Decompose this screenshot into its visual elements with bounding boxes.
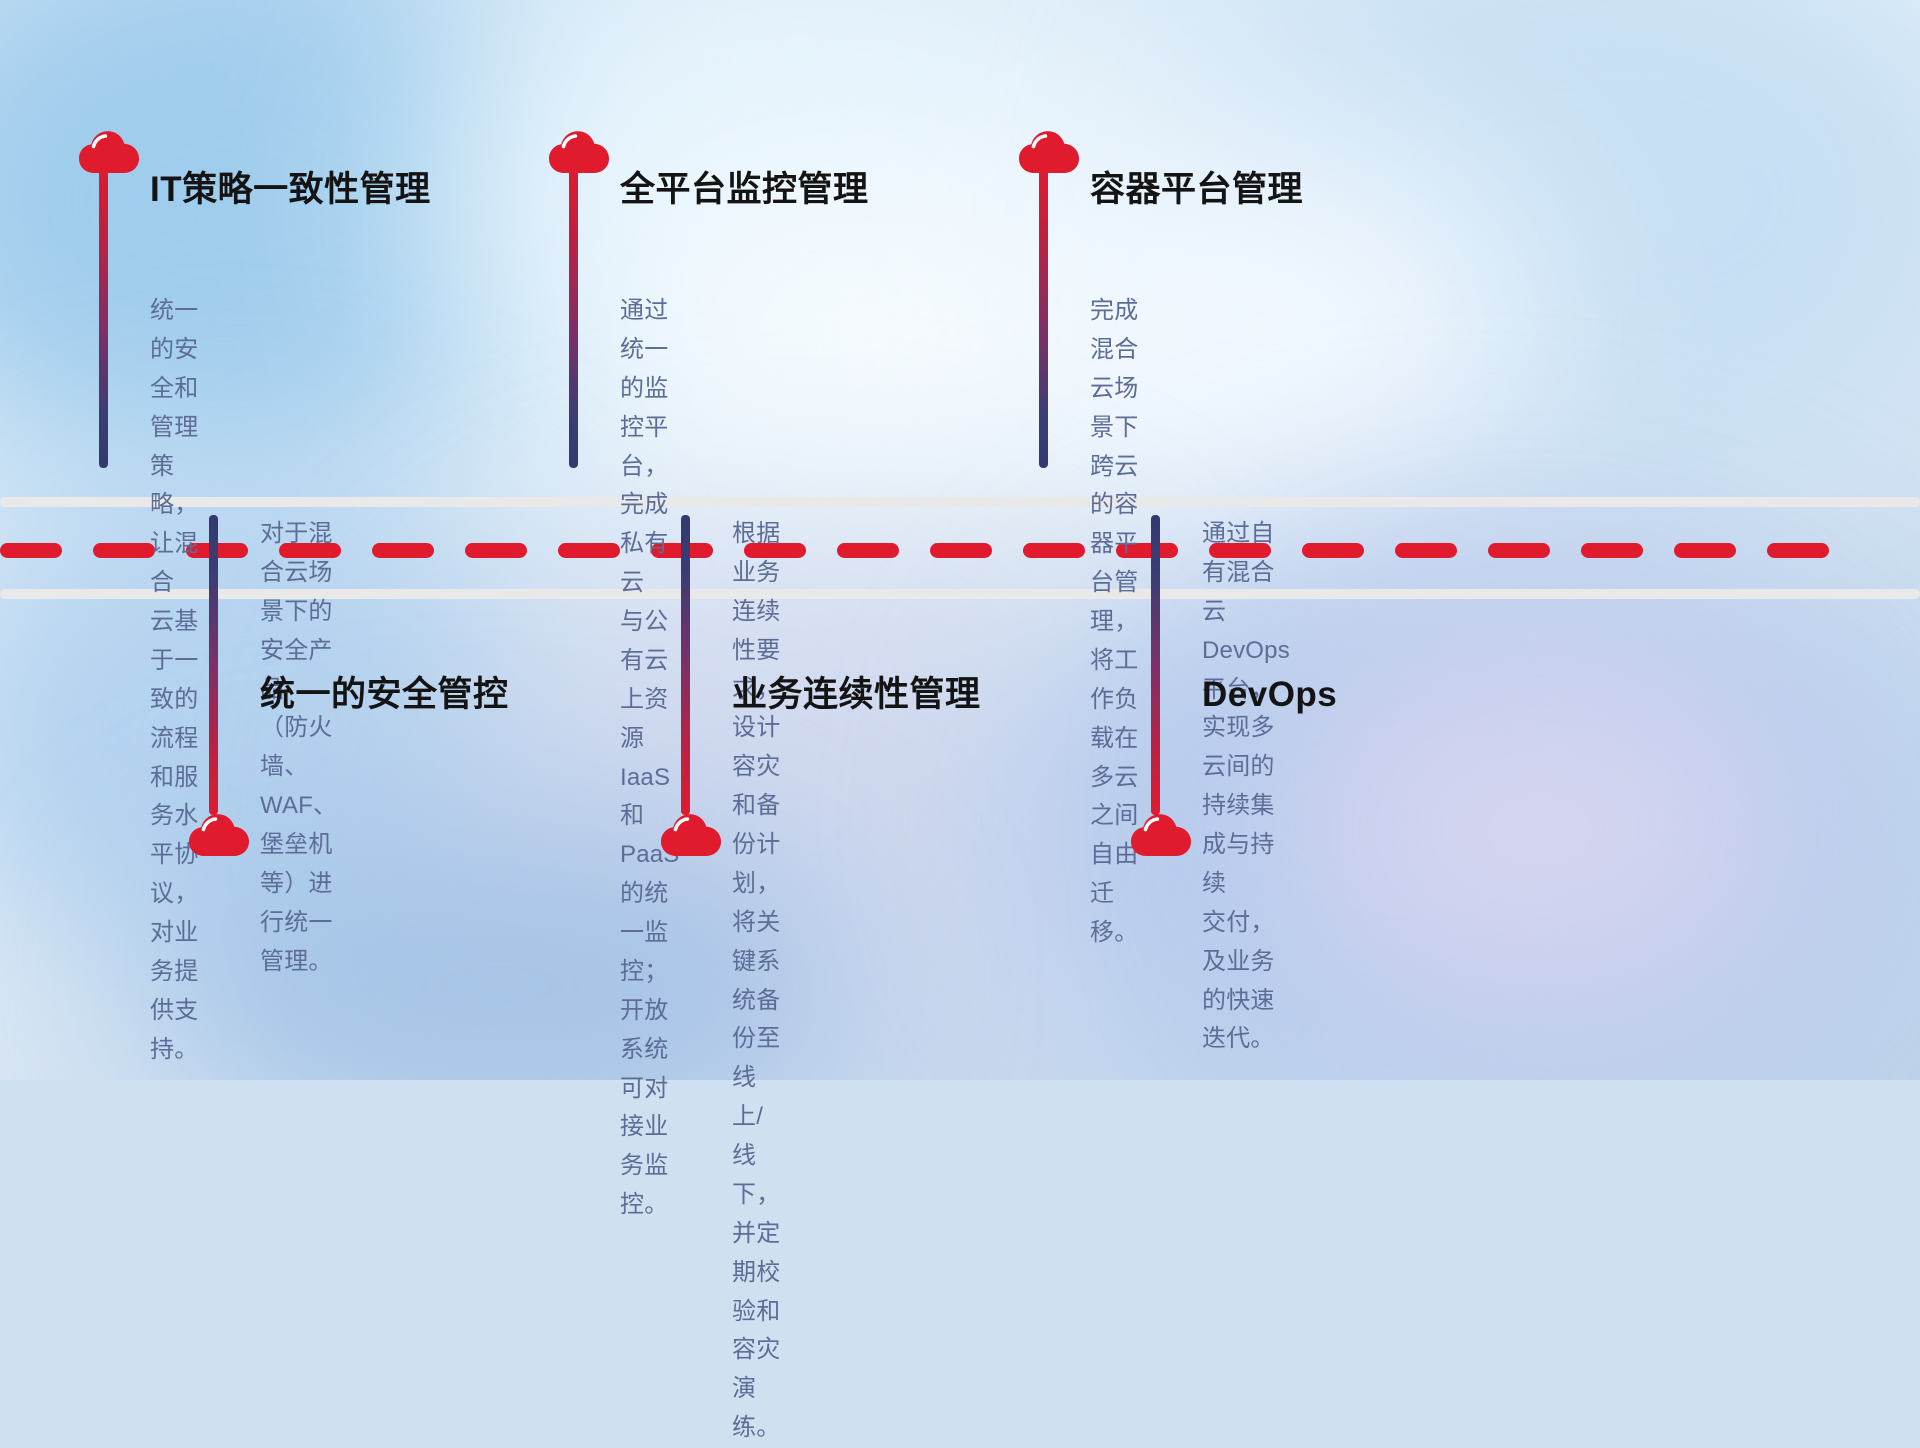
feature-heading: 业务连续性管理 [732,677,981,712]
divider-dash [1767,543,1829,558]
divider-dash [930,543,992,558]
divider-dash [558,543,620,558]
divider-dash [1674,543,1736,558]
feature-heading: 全平台监控管理 [620,172,869,207]
background-blob [640,180,1060,480]
cloud-icon [1130,813,1192,857]
feature-heading: 统一的安全管控 [260,677,509,712]
connector-bar [681,515,690,815]
feature-heading: 容器平台管理 [1090,172,1303,207]
connector-bar [569,168,578,468]
divider-line-top [0,497,1920,507]
connector-bar [99,168,108,468]
connector-bar [1151,515,1160,815]
divider-dash [1302,543,1364,558]
feature-body: 对于混合云场景下的安全产品 （防火墙、WAF、堡垒机等）进 行统一管理。 [260,515,337,982]
divider-dash [1023,543,1085,558]
cloud-icon [188,813,250,857]
cloud-icon [548,130,610,174]
divider-dash [0,543,62,558]
feature-heading: DevOps [1202,677,1337,712]
divider-dash [1581,543,1643,558]
divider-dash [1488,543,1550,558]
feature-body: 通过自有混合云DevOps平台， 实现多云间的持续集成与持续 交付，及业务的快速… [1202,515,1290,1059]
cloud-icon [1018,130,1080,174]
connector-bar [1039,168,1048,468]
divider-dash [93,543,155,558]
feature-body: 通过统一的监控平台，完成私有云 与公有云上资源IaaS和PaaS的统 一监控；开… [620,292,680,1225]
connector-bar [209,515,218,815]
feature-heading: IT策略一致性管理 [150,172,431,207]
background-blob [1280,640,1800,1020]
cloud-icon [660,813,722,857]
feature-body: 统一的安全和管理策略，让混合 云基于一致的流程和服务水平协 议，对业务提供支持。 [150,292,198,1070]
feature-body: 根据业务连续性要求，设计容灾 和备份计划，将关键系统备份至 线上/线下，并定期校… [732,515,780,1448]
divider-dash [372,543,434,558]
divider-dash [465,543,527,558]
divider-dash [1395,543,1457,558]
divider-dash [837,543,899,558]
cloud-icon [78,130,140,174]
